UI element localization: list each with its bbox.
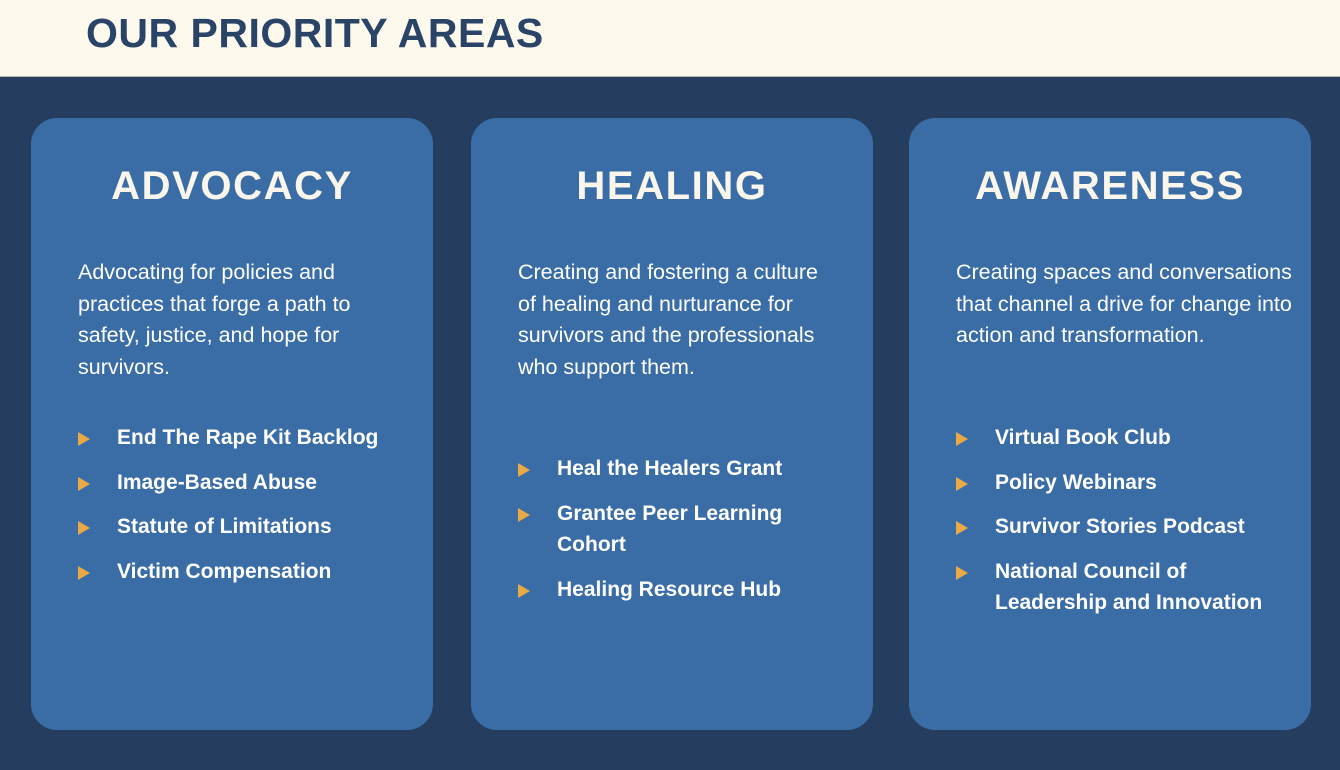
list-item-label: Policy Webinars (995, 467, 1289, 499)
list-item-label: Statute of Limitations (117, 511, 411, 543)
list-item[interactable]: Virtual Book Club (956, 422, 1289, 454)
triangle-bullet-icon (956, 566, 968, 580)
triangle-bullet-icon (518, 508, 530, 522)
page-title: OUR PRIORITY AREAS (86, 13, 544, 54)
list-item[interactable]: Healing Resource Hub (518, 574, 851, 606)
header-band: OUR PRIORITY AREAS (0, 0, 1340, 77)
priority-card-healing[interactable]: HEALING Creating and fostering a culture… (471, 118, 873, 730)
card-description: Creating spaces and conversations that c… (956, 257, 1295, 352)
card-bullet-list: Virtual Book Club Policy Webinars Surviv… (956, 422, 1289, 619)
priority-card-advocacy[interactable]: ADVOCACY Advocating for policies and pra… (31, 118, 433, 730)
slide-root: OUR PRIORITY AREAS ADVOCACY Advocating f… (0, 0, 1340, 770)
priority-card-awareness[interactable]: AWARENESS Creating spaces and conversati… (909, 118, 1311, 730)
triangle-bullet-icon (956, 432, 968, 446)
card-description: Advocating for policies and practices th… (78, 257, 405, 383)
triangle-bullet-icon (78, 566, 90, 580)
triangle-bullet-icon (78, 432, 90, 446)
triangle-bullet-icon (518, 463, 530, 477)
triangle-bullet-icon (956, 477, 968, 491)
list-item[interactable]: National Council of Leadership and Innov… (956, 556, 1289, 619)
list-item[interactable]: Grantee Peer Learning Cohort (518, 498, 851, 561)
priority-area-card-deck: ADVOCACY Advocating for policies and pra… (0, 78, 1340, 770)
triangle-bullet-icon (78, 477, 90, 491)
card-bullet-list: End The Rape Kit Backlog Image-Based Abu… (78, 422, 411, 587)
list-item[interactable]: Policy Webinars (956, 467, 1289, 499)
list-item[interactable]: Heal the Healers Grant (518, 453, 851, 485)
card-title: ADVOCACY (31, 166, 433, 206)
list-item-label: National Council of Leadership and Innov… (995, 556, 1289, 619)
list-item[interactable]: Victim Compensation (78, 556, 411, 588)
list-item-label: Virtual Book Club (995, 422, 1289, 454)
triangle-bullet-icon (78, 521, 90, 535)
list-item[interactable]: Image-Based Abuse (78, 467, 411, 499)
triangle-bullet-icon (518, 584, 530, 598)
list-item-label: End The Rape Kit Backlog (117, 422, 411, 454)
list-item-label: Healing Resource Hub (557, 574, 851, 606)
card-title: HEALING (471, 166, 873, 206)
card-title: AWARENESS (909, 166, 1311, 206)
list-item[interactable]: Statute of Limitations (78, 511, 411, 543)
list-item-label: Heal the Healers Grant (557, 453, 851, 485)
list-item[interactable]: End The Rape Kit Backlog (78, 422, 411, 454)
card-bullet-list: Heal the Healers Grant Grantee Peer Lear… (518, 453, 851, 605)
triangle-bullet-icon (956, 521, 968, 535)
list-item-label: Survivor Stories Podcast (995, 511, 1289, 543)
list-item[interactable]: Survivor Stories Podcast (956, 511, 1289, 543)
card-description: Creating and fostering a culture of heal… (518, 257, 829, 383)
list-item-label: Grantee Peer Learning Cohort (557, 498, 851, 561)
list-item-label: Image-Based Abuse (117, 467, 411, 499)
list-item-label: Victim Compensation (117, 556, 411, 588)
